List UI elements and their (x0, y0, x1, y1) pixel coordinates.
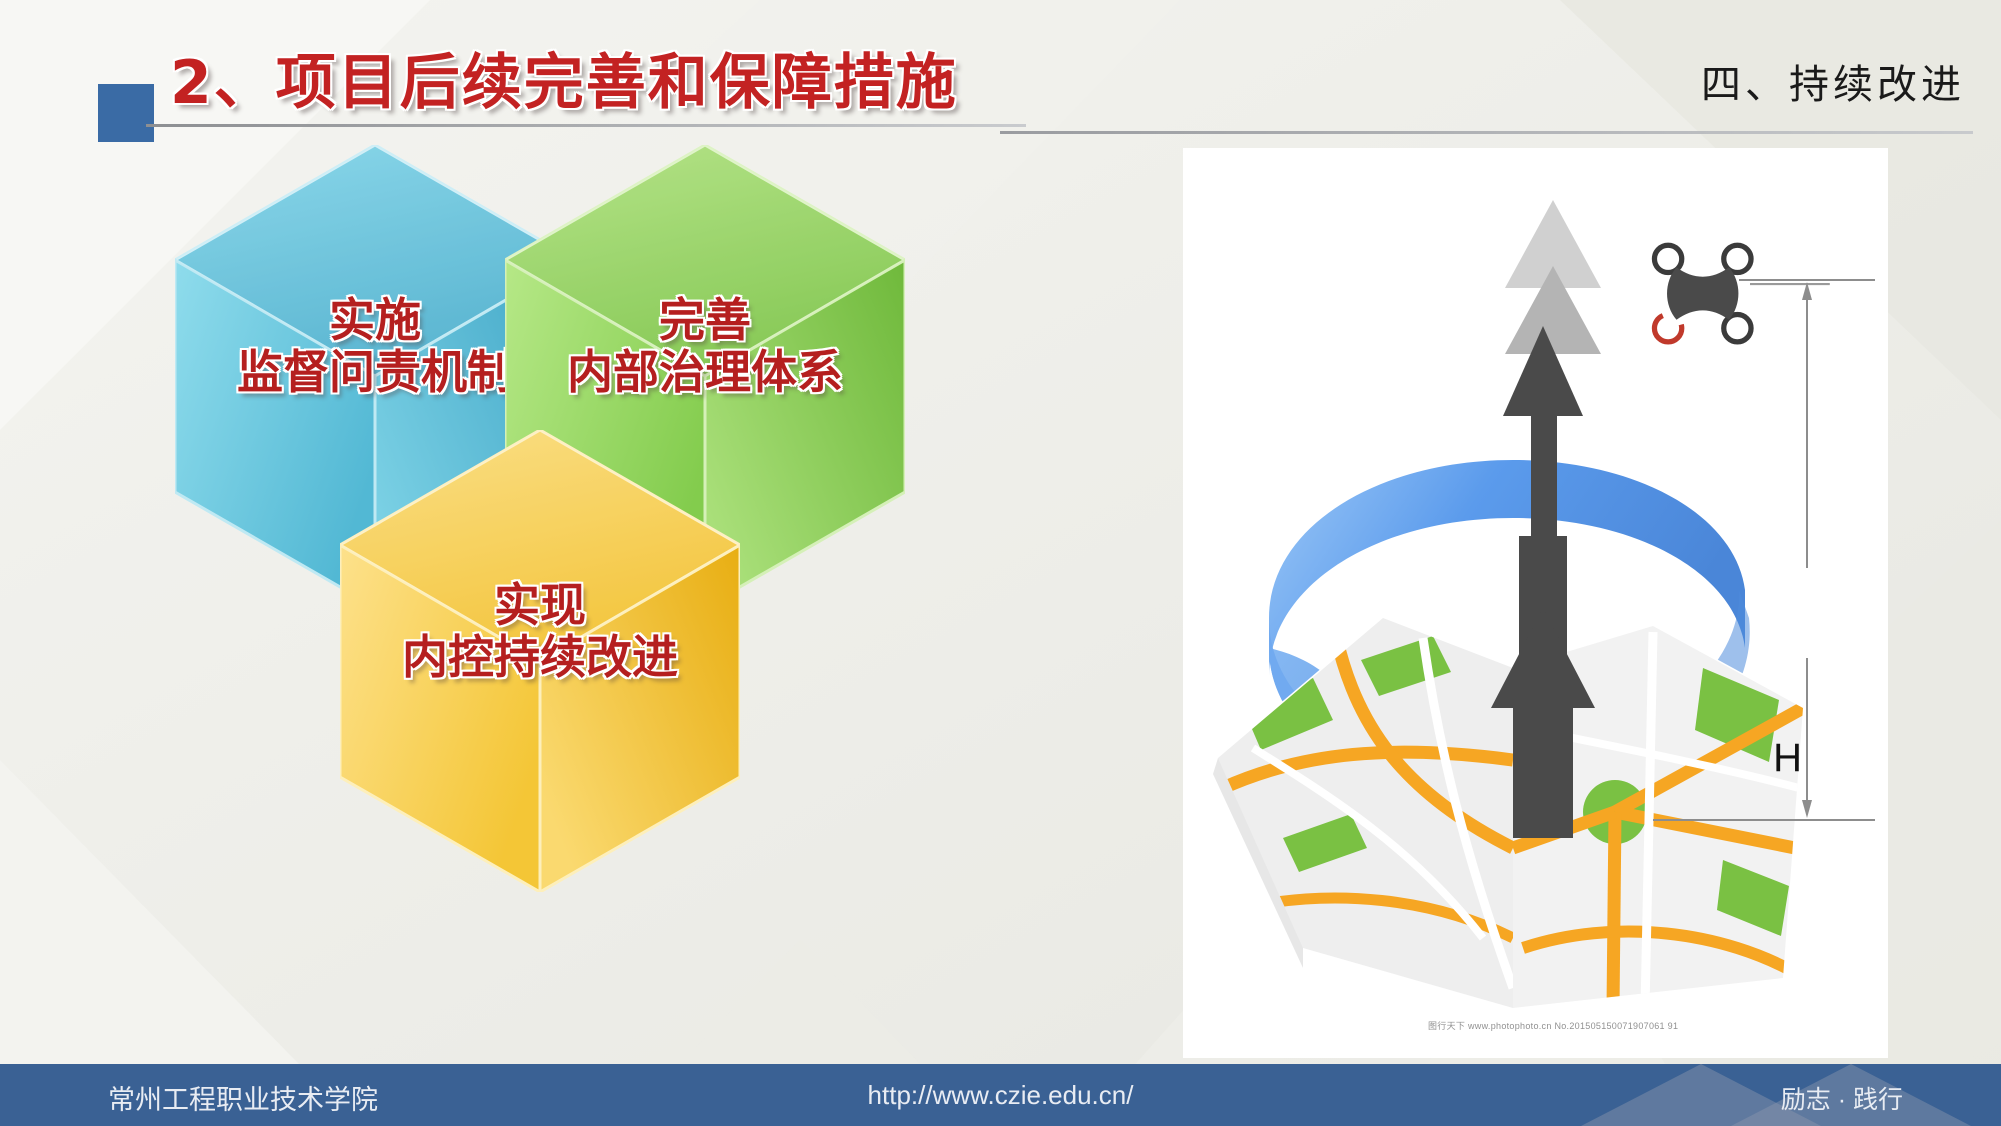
height-dimension-label: H (1773, 736, 1802, 781)
title-underline (146, 124, 1026, 127)
section-underline (1000, 131, 1973, 134)
page-title: 2、项目后续完善和保障措施 (170, 34, 958, 121)
section-label: 四、持续改进 (1701, 52, 1965, 110)
hexagon-yellow[interactable]: 实现 内控持续改进 (340, 430, 740, 892)
footer-motto: 励志 · 践行 (1781, 1080, 1903, 1116)
footer-url[interactable]: http://www.czie.edu.cn/ (0, 1080, 2001, 1111)
hexagon-cluster: 实施 监督问责机制 (120, 130, 880, 920)
slide-canvas: 2、项目后续完善和保障措施 四、持续改进 (0, 0, 2001, 1126)
illustration-panel: H 图行天下 www.photophoto.cn No.201505150071… (1183, 148, 1888, 1058)
drone-altitude-illustration (1183, 148, 1888, 1058)
footer-bar: 常州工程职业技术学院 http://www.czie.edu.cn/ 励志 · … (0, 1064, 2001, 1126)
stock-photo-watermark: 图行天下 www.photophoto.cn No.20150515007190… (1428, 1019, 1678, 1032)
